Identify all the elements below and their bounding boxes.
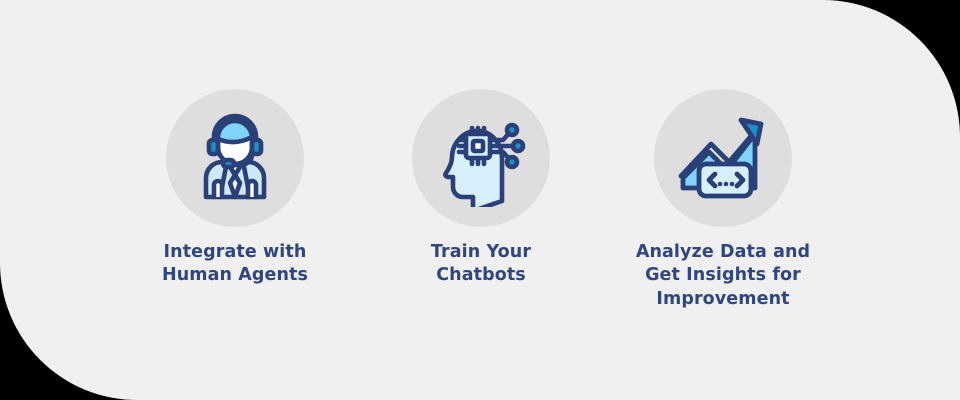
- ai-brain-chip-head-icon: [432, 109, 530, 207]
- feature-icon-circle: [166, 89, 304, 227]
- feature-label: Integrate with Human Agents: [162, 241, 308, 288]
- feature-label-line: Improvement: [636, 288, 810, 311]
- feature-highlights-banner: Integrate with Human Agents: [0, 0, 960, 400]
- feature-label: Analyze Data and Get Insights for Improv…: [636, 241, 810, 311]
- feature-label-line: Chatbots: [431, 264, 531, 287]
- feature-icon-circle: [412, 89, 550, 227]
- feature-label-line: Human Agents: [162, 264, 308, 287]
- feature-item-train-chatbots[interactable]: Train Your Chatbots: [366, 89, 596, 288]
- support-agent-headset-icon: [186, 109, 284, 207]
- feature-label: Train Your Chatbots: [431, 241, 531, 288]
- feature-label-line: Train Your: [431, 241, 531, 264]
- feature-list: Integrate with Human Agents: [0, 0, 960, 400]
- feature-item-integrate-human-agents[interactable]: Integrate with Human Agents: [120, 89, 350, 288]
- growth-chart-code-icon: [671, 106, 775, 210]
- feature-label-line: Integrate with: [162, 241, 308, 264]
- feature-label-line: Get Insights for: [636, 264, 810, 287]
- feature-icon-circle: [654, 89, 792, 227]
- feature-label-line: Analyze Data and: [636, 241, 810, 264]
- feature-item-analyze-data[interactable]: Analyze Data and Get Insights for Improv…: [608, 89, 838, 311]
